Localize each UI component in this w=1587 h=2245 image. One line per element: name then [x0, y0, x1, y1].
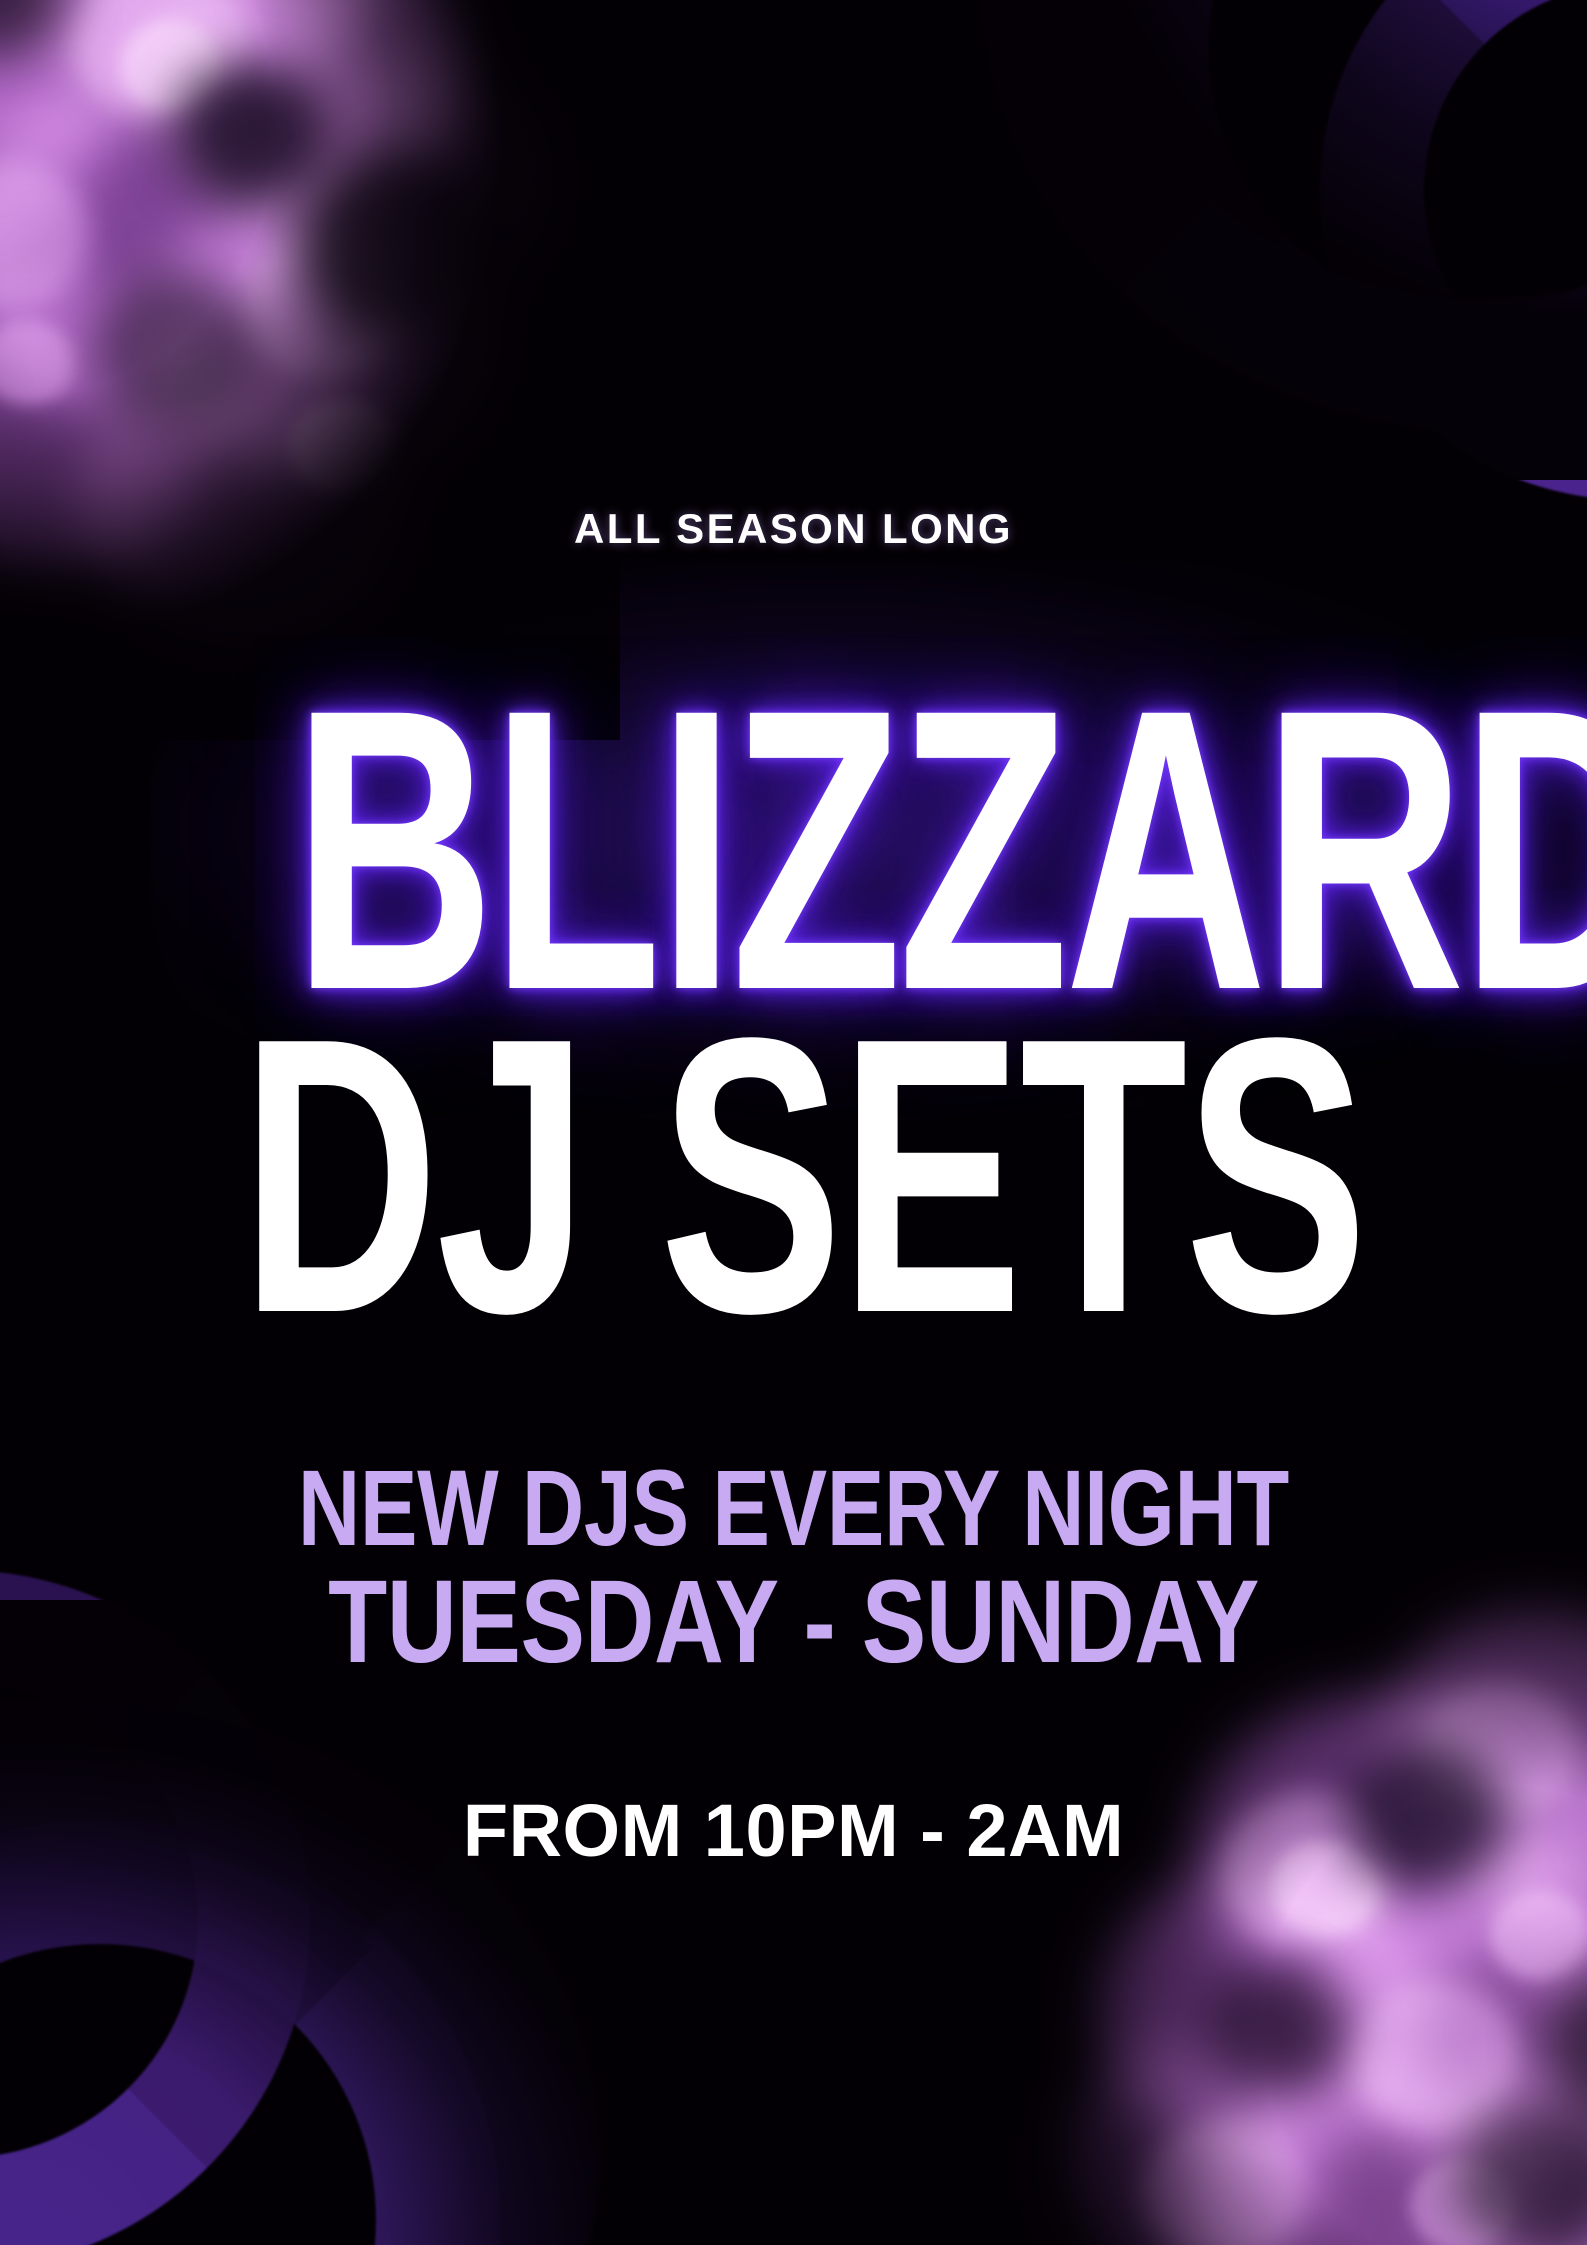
detail-row-days: TUESDAY - SUNDAY: [0, 1570, 1587, 1680]
poster-canvas: ALL SEASON LONG BLIZZARD DJ SETS NEW DJS…: [0, 0, 1587, 2245]
detail-line-djs: NEW DJS EVERY NIGHT: [298, 1460, 1289, 1556]
subhead-row: DJ SETS: [0, 1030, 1587, 1340]
detail-line-days: TUESDAY - SUNDAY: [328, 1570, 1259, 1674]
detail-row-djs: NEW DJS EVERY NIGHT: [0, 1460, 1587, 1560]
kicker-text: ALL SEASON LONG: [0, 505, 1587, 553]
page-subtitle: DJ SETS: [241, 1030, 1365, 1322]
poster-content: ALL SEASON LONG BLIZZARD DJ SETS NEW DJS…: [0, 0, 1587, 2245]
page-title: BLIZZARD: [293, 700, 1587, 1000]
detail-line-time: FROM 10PM - 2AM: [0, 1788, 1587, 1873]
